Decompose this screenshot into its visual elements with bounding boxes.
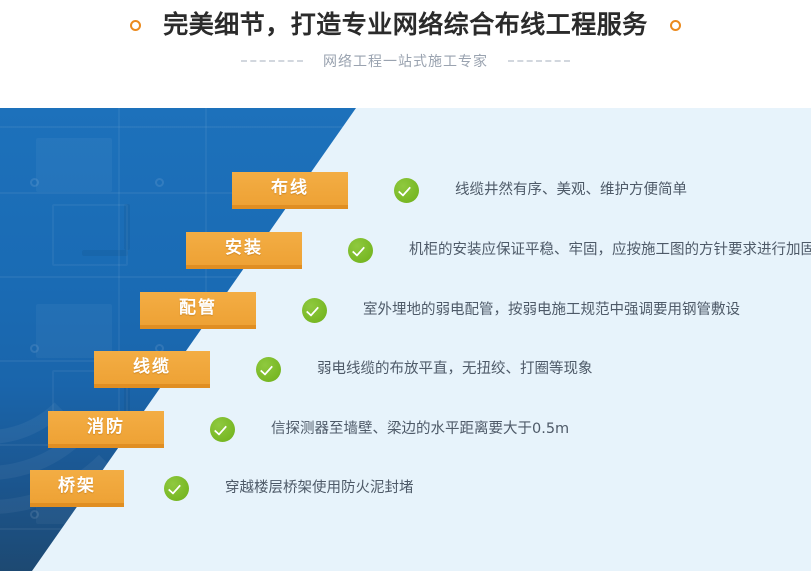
stage-label-xiaofang[interactable]: 消防 [48,411,164,448]
check-circle-icon [164,476,189,501]
page-subtitle: 网络工程一站式施工专家 [323,51,488,71]
stage-label-text: 桥架 [58,478,96,495]
title-row: 完美细节，打造专业网络综合布线工程服务 [0,6,811,44]
texture-bar [124,204,130,250]
dashed-rule-right [508,60,570,62]
stage-label-buxian[interactable]: 布线 [232,172,348,209]
stage-label-anzhuang[interactable]: 安装 [186,232,302,269]
page-title: 完美细节，打造专业网络综合布线工程服务 [163,6,648,44]
feature-row-xianlan: 弱电线缆的布放平直，无扭绞、打圈等现象 [256,357,593,382]
circle-ornament-right-icon [670,20,681,31]
check-circle-icon [302,298,327,323]
texture-dot [30,510,39,519]
stage-label-text: 线缆 [133,359,171,376]
texture-bar [82,250,128,256]
stage-label-text: 配管 [179,300,217,317]
texture-dot [30,178,39,187]
stage-label-text: 安装 [225,240,263,257]
texture-block [36,138,112,192]
check-circle-icon [348,238,373,263]
stage-label-text: 布线 [271,180,309,197]
feature-text: 信探测器至墙壁、梁边的水平距离要大于0.5m [271,422,569,437]
check-circle-icon [210,417,235,442]
texture-dot [30,344,39,353]
dashed-rule-left [241,60,303,62]
texture-outline [52,204,128,266]
circle-ornament-left-icon [130,20,141,31]
check-circle-icon [394,178,419,203]
subtitle-row: 网络工程一站式施工专家 [0,48,811,74]
feature-text: 弱电线缆的布放平直，无扭绞、打圈等现象 [317,362,593,377]
page-root: 完美细节，打造专业网络综合布线工程服务 网络工程一站式施工专家 [0,0,811,571]
feature-text: 穿越楼层桥架使用防火泥封堵 [225,481,414,496]
texture-dot [155,178,164,187]
feature-row-anzhuang: 机柜的安装应保证平稳、牢固，应按施工图的方针要求进行加固 [348,238,811,263]
stage-label-text: 消防 [87,419,125,436]
page-header: 完美细节，打造专业网络综合布线工程服务 网络工程一站式施工专家 [0,0,811,108]
texture-block [36,304,112,358]
check-circle-icon [256,357,281,382]
stage-label-qiaojia[interactable]: 桥架 [30,470,124,507]
stage-label-xianlan[interactable]: 线缆 [94,351,210,388]
feature-text: 机柜的安装应保证平稳、牢固，应按施工图的方针要求进行加固 [409,243,811,258]
feature-row-qiaojia: 穿越楼层桥架使用防火泥封堵 [164,476,414,501]
feature-row-buxian: 线缆井然有序、美观、维护方便简单 [394,178,687,203]
stage-label-peiguan[interactable]: 配管 [140,292,256,329]
feature-row-xiaofang: 信探测器至墙壁、梁边的水平距离要大于0.5m [210,417,569,442]
feature-text: 室外埋地的弱电配管，按弱电施工规范中强调要用钢管敷设 [363,303,740,318]
feature-text: 线缆井然有序、美观、维护方便简单 [455,183,687,198]
feature-row-peiguan: 室外埋地的弱电配管，按弱电施工规范中强调要用钢管敷设 [302,298,740,323]
